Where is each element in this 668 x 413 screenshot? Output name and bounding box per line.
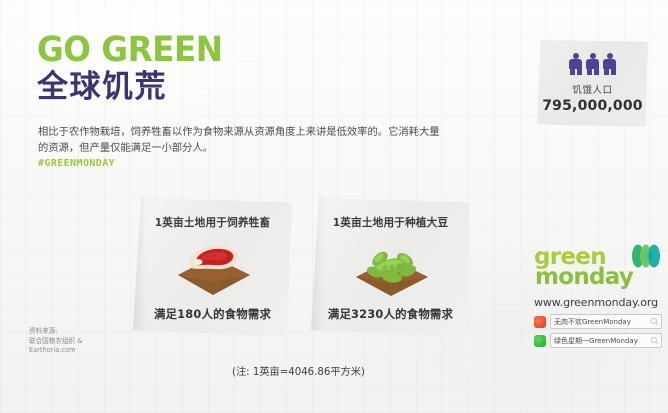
social-row-weibo[interactable]: 无肉不欢GreenMonday <box>534 314 662 329</box>
card-livestock: 1英亩土地用于饲养牲畜 满足180人的食物需求 <box>133 198 292 337</box>
hunger-stat-card: 饥饿人口 795,000,000 <box>537 40 648 127</box>
brand-block: green monday www.greenmonday.org 无肉不欢Gre… <box>534 247 662 348</box>
green-monday-logo[interactable]: green monday <box>534 247 662 293</box>
wechat-handle-pill[interactable]: 绿色星期一GreenMonday <box>550 333 662 348</box>
person-icon <box>569 53 582 75</box>
social-links: 无肉不欢GreenMonday 绿色星期一GreenMonday <box>534 314 662 348</box>
search-icon[interactable] <box>650 332 659 350</box>
website-url[interactable]: www.greenmonday.org <box>534 296 662 309</box>
comparison-cards: 1英亩土地用于饲养牲畜 满足180人的食物需求 1英亩土地用 <box>133 198 470 337</box>
stat-label: 饥饿人口 <box>572 82 612 96</box>
source-attribution: 资料来源: 联合国粮农组织 & Earthoria.com <box>29 327 82 356</box>
infographic-poster: GO GREEN 全球饥荒 相比于农作物栽培，饲养牲畜以作为食物来源从资源角度上… <box>0 0 668 413</box>
hashtag-label: #GREENMONDAY <box>38 158 115 169</box>
people-icon-group <box>569 53 616 75</box>
footnote: (注: 1英亩=4046.86平方米) <box>232 363 365 378</box>
source-line-3: Earthoria.com <box>29 346 82 356</box>
card-footer: 满足3230人的食物需求 <box>328 306 453 322</box>
source-line-1: 资料来源: <box>29 327 82 337</box>
stat-value: 795,000,000 <box>542 98 643 114</box>
search-icon[interactable] <box>650 313 659 331</box>
weibo-handle-pill[interactable]: 无肉不欢GreenMonday <box>550 314 662 329</box>
weibo-handle-text: 无肉不欢GreenMonday <box>554 317 631 327</box>
person-icon <box>586 53 599 75</box>
source-line-2: 联合国粮农组织 & <box>29 337 82 347</box>
leaf-mark-icon <box>630 244 662 274</box>
card-title: 1英亩土地用于饲养牲畜 <box>155 215 271 230</box>
steak-on-soil-icon <box>133 230 292 306</box>
card-soybean: 1英亩土地用于种植大豆 <box>311 198 470 337</box>
weibo-icon <box>534 316 546 328</box>
soybean-on-soil-icon <box>311 230 470 306</box>
wechat-handle-text: 绿色星期一GreenMonday <box>554 336 638 346</box>
card-title: 1英亩土地用于种植大豆 <box>333 215 449 230</box>
card-footer: 满足180人的食物需求 <box>154 306 271 322</box>
social-row-wechat[interactable]: 绿色星期一GreenMonday <box>534 333 662 348</box>
page-title-en: GO GREEN <box>37 33 223 67</box>
page-title-cn: 全球饥荒 <box>37 71 236 104</box>
headline-block: GO GREEN 全球饥荒 <box>37 33 236 104</box>
person-icon <box>603 53 616 75</box>
intro-paragraph: 相比于农作物栽培，饲养牲畜以作为食物来源从资源角度上来讲是低效率的。它消耗大量的… <box>38 124 442 156</box>
wechat-icon <box>534 335 546 347</box>
